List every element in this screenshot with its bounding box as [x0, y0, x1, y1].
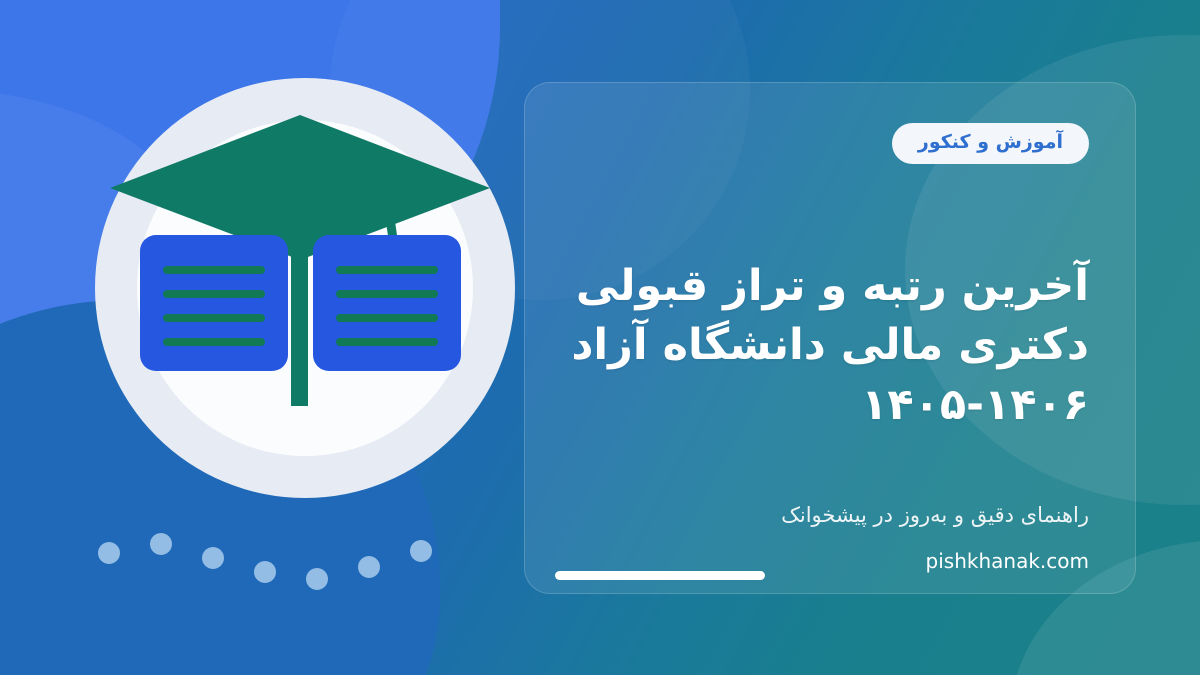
content-card: آموزش و کنکور آخرین رتبه و تراز قبولی دک… — [524, 82, 1136, 594]
decorative-dot — [254, 561, 276, 583]
decorative-dot — [98, 542, 120, 564]
decorative-dot — [410, 540, 432, 562]
page-title-line-3: ۱۴۰۵-۱۴۰۶ — [571, 376, 1089, 435]
page-title: آخرین رتبه و تراز قبولی دکتری مالی دانشگ… — [571, 257, 1089, 435]
decorative-dot — [306, 568, 328, 590]
accent-bar — [555, 571, 765, 580]
promo-banner: آموزش و کنکور آخرین رتبه و تراز قبولی دک… — [0, 0, 1200, 675]
site-domain: pishkhanak.com — [571, 549, 1089, 573]
decorative-dot — [150, 533, 172, 555]
category-badge: آموزش و کنکور — [892, 123, 1089, 164]
decorative-dot — [358, 556, 380, 578]
page-title-line-1: آخرین رتبه و تراز قبولی — [571, 257, 1089, 316]
subtitle: راهنمای دقیق و به‌روز در پیشخوانک — [571, 501, 1089, 530]
page-title-line-2: دکتری مالی دانشگاه آزاد — [571, 316, 1089, 375]
decorative-dot — [202, 547, 224, 569]
